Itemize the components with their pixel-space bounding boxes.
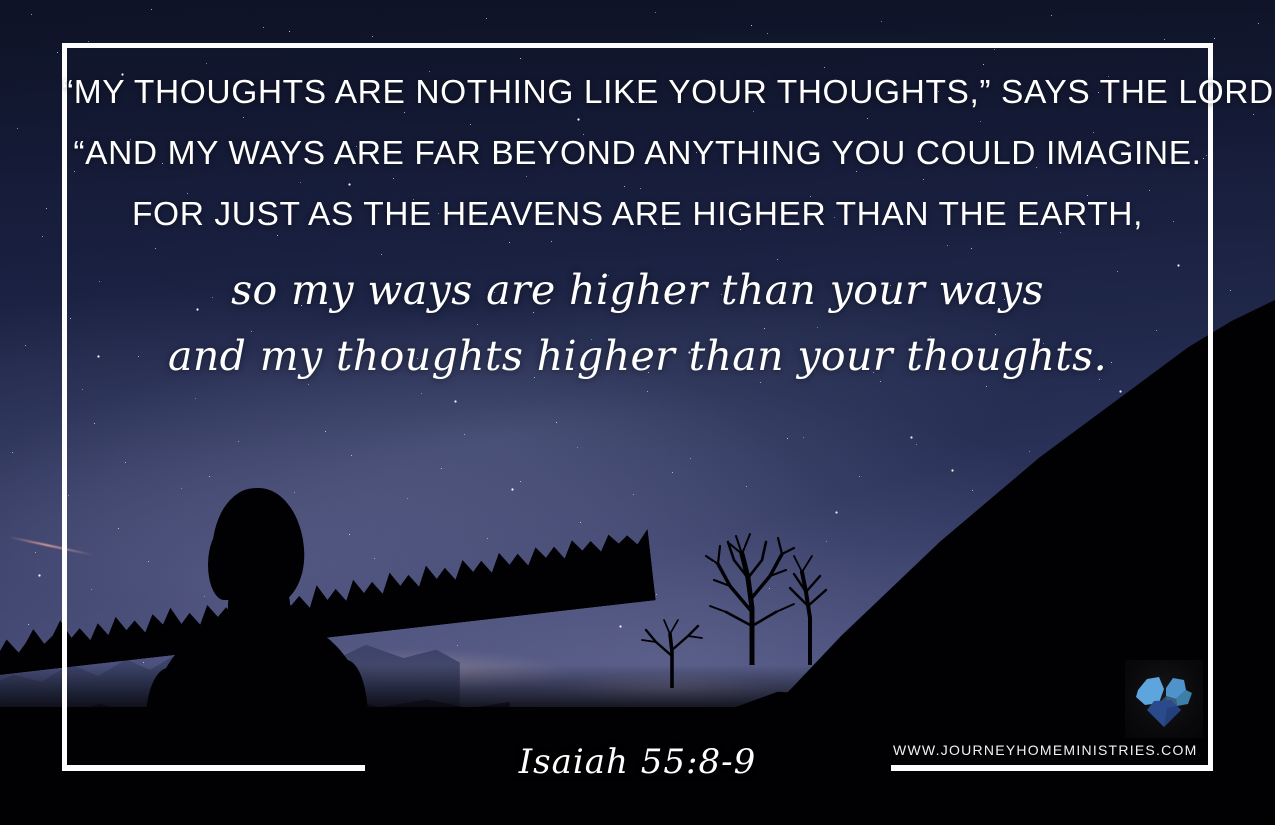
quote-line-3: FOR JUST AS THE HEAVENS ARE HIGHER THAN … bbox=[62, 184, 1213, 245]
quote-image: “MY THOUGHTS ARE NOTHING LIKE YOUR THOUG… bbox=[0, 0, 1275, 825]
bare-tree-small bbox=[628, 608, 718, 688]
scripture-quote: “MY THOUGHTS ARE NOTHING LIKE YOUR THOUG… bbox=[62, 62, 1213, 389]
website-url[interactable]: WWW.JOURNEYHOMEMINISTRIES.COM bbox=[893, 742, 1198, 758]
quote-script-line-2: and my thoughts higher than your thought… bbox=[62, 323, 1213, 389]
journey-home-ministries-logo[interactable] bbox=[1125, 660, 1203, 738]
quote-script-line-1: so my ways are higher than your ways bbox=[62, 257, 1213, 323]
quote-line-2: “AND MY WAYS ARE FAR BEYOND ANYTHING YOU… bbox=[62, 123, 1213, 184]
quote-line-1: “MY THOUGHTS ARE NOTHING LIKE YOUR THOUG… bbox=[62, 62, 1213, 123]
